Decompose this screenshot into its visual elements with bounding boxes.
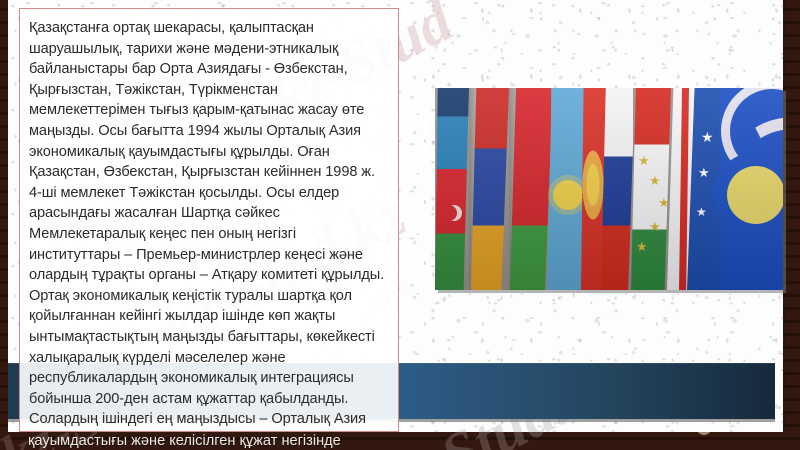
uzbekistan-flag-star: ★ bbox=[701, 130, 714, 144]
body-paragraph: Қазақстанға ортақ шекарасы, қалыптасқан … bbox=[20, 9, 398, 432]
tajikistan-flag-star: ★ bbox=[636, 240, 648, 253]
cis-emblem-disc bbox=[727, 166, 783, 224]
flags-photo: ★ ★ ★ ★ ★ ★ ★ ★ ★ ★ ★ bbox=[435, 88, 783, 290]
overflow-text-line: қауымдастығы және келісілген құжат негіз… bbox=[28, 431, 448, 450]
russia-flag bbox=[601, 88, 635, 290]
tajikistan-flag-star: ★ bbox=[649, 220, 661, 233]
kazakhstan-flag-sun bbox=[553, 180, 583, 210]
azerbaijan-flag bbox=[435, 88, 469, 290]
tajikistan-flag-star: ★ bbox=[638, 154, 650, 167]
tajikistan-flag-star: ★ bbox=[658, 196, 670, 209]
tajikistan-flag bbox=[631, 88, 671, 290]
belarus-flag bbox=[509, 88, 553, 290]
tajikistan-flag-star: ★ bbox=[649, 174, 661, 187]
slide-root: .kz-Stud kz-Stud.kz Stud.kz kz-Stud.kz ★… bbox=[0, 0, 800, 450]
uzbekistan-flag-star: ★ bbox=[698, 166, 710, 179]
armenia-flag bbox=[471, 88, 509, 290]
content-text-box: Қазақстанға ортақ шекарасы, қалыптасқан … bbox=[19, 8, 399, 432]
uzbekistan-flag-star: ★ bbox=[696, 206, 707, 218]
kyrgyzstan-flag-sun bbox=[581, 146, 605, 224]
